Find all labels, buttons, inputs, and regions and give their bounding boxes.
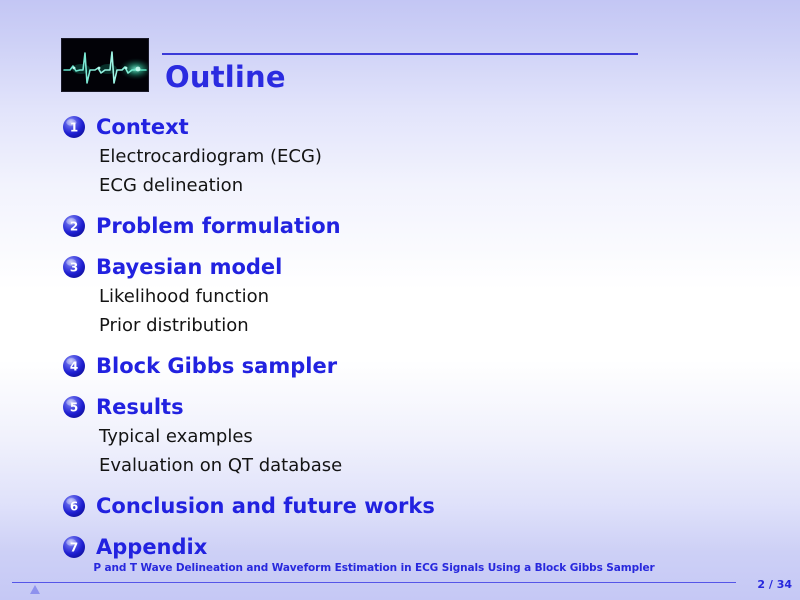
outline-section-title: Context xyxy=(96,115,189,139)
outline-section-title: Conclusion and future works xyxy=(96,494,435,518)
outline-section-title: Results xyxy=(96,395,184,419)
outline-subitem[interactable]: Likelihood function xyxy=(0,282,800,311)
triangle-up-icon[interactable] xyxy=(30,585,40,594)
svg-text:2: 2 xyxy=(70,220,78,234)
section-spacer xyxy=(0,241,800,252)
outline-subitem[interactable]: Typical examples xyxy=(0,422,800,451)
outline-subitem[interactable]: Prior distribution xyxy=(0,311,800,340)
svg-text:4: 4 xyxy=(70,360,78,374)
numbered-bullet-icon: 3 xyxy=(62,255,86,279)
outline-section-link-2[interactable]: 2Problem formulation xyxy=(0,211,800,241)
outline-section-title: Block Gibbs sampler xyxy=(96,354,337,378)
svg-text:5: 5 xyxy=(70,401,78,415)
ecg-waveform-logo xyxy=(61,38,149,92)
slide-footer: P and T Wave Delineation and Waveform Es… xyxy=(0,552,800,600)
numbered-bullet-icon: 2 xyxy=(62,214,86,238)
outline-subitem[interactable]: Electrocardiogram (ECG) xyxy=(0,142,800,171)
numbered-bullet-icon: 6 xyxy=(62,494,86,518)
page-number: 2 / 34 xyxy=(757,578,792,591)
svg-text:6: 6 xyxy=(70,500,78,514)
outline-section: 5ResultsTypical examplesEvaluation on QT… xyxy=(0,392,800,491)
outline-section-link-6[interactable]: 6Conclusion and future works xyxy=(0,491,800,521)
presentation-slide: Outline 1ContextElectrocardiogram (ECG)E… xyxy=(0,0,800,600)
numbered-bullet-icon: 5 xyxy=(62,395,86,419)
svg-text:1: 1 xyxy=(70,121,78,135)
outline-section-title: Problem formulation xyxy=(96,214,341,238)
outline-list: 1ContextElectrocardiogram (ECG)ECG delin… xyxy=(0,112,800,573)
outline-section-link-5[interactable]: 5Results xyxy=(0,392,800,422)
numbered-bullet-icon: 1 xyxy=(62,115,86,139)
outline-section-link-1[interactable]: 1Context xyxy=(0,112,800,142)
section-spacer xyxy=(0,200,800,211)
page-title: Outline xyxy=(165,60,286,94)
footer-divider xyxy=(12,582,736,583)
outline-section-link-3[interactable]: 3Bayesian model xyxy=(0,252,800,282)
numbered-bullet-icon: 4 xyxy=(62,354,86,378)
outline-subitem[interactable]: Evaluation on QT database xyxy=(0,451,800,480)
section-spacer xyxy=(0,381,800,392)
svg-text:3: 3 xyxy=(70,261,78,275)
section-spacer xyxy=(0,521,800,532)
slide-header: Outline xyxy=(0,0,800,108)
section-spacer xyxy=(0,480,800,491)
outline-subitem[interactable]: ECG delineation xyxy=(0,171,800,200)
section-spacer xyxy=(0,340,800,351)
outline-section-title: Bayesian model xyxy=(96,255,282,279)
outline-section: 2Problem formulation xyxy=(0,211,800,252)
outline-section: 1ContextElectrocardiogram (ECG)ECG delin… xyxy=(0,112,800,211)
footer-presentation-title: P and T Wave Delineation and Waveform Es… xyxy=(0,562,748,574)
outline-section: 6Conclusion and future works xyxy=(0,491,800,532)
header-divider xyxy=(162,53,638,55)
outline-section: 4Block Gibbs sampler xyxy=(0,351,800,392)
outline-section: 3Bayesian modelLikelihood functionPrior … xyxy=(0,252,800,351)
outline-section-link-4[interactable]: 4Block Gibbs sampler xyxy=(0,351,800,381)
